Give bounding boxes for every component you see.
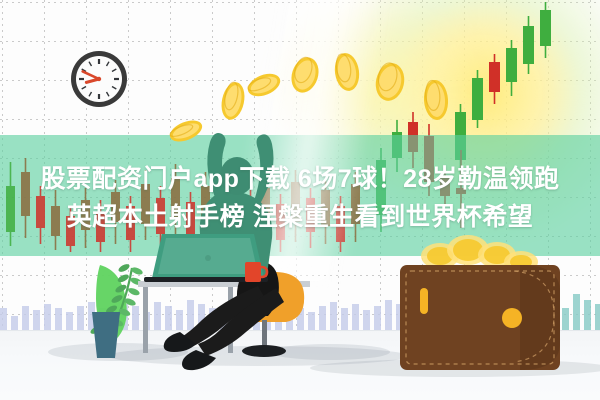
gold-coin xyxy=(287,54,323,96)
wallet-clasp xyxy=(502,308,522,328)
gold-coin xyxy=(372,61,407,104)
gold-coin xyxy=(332,52,361,93)
gold-coin xyxy=(423,79,450,121)
gold-coin xyxy=(244,69,283,100)
gold-coin xyxy=(218,80,247,122)
gold-coin xyxy=(167,116,205,145)
object-shadow xyxy=(270,344,390,360)
scene-illustration xyxy=(0,0,600,400)
poster-canvas: 股票配资门户app下载 6场7球！28岁勒温领跑 英超本土射手榜 涅槃重生看到世… xyxy=(0,0,600,400)
wall-clock-icon xyxy=(71,51,127,107)
leather-wallet xyxy=(400,235,560,370)
